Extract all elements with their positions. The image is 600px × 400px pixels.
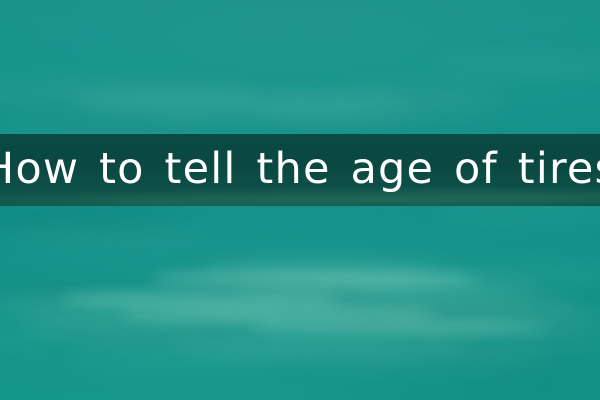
cloud-wisp	[0, 232, 210, 242]
cloud-wisp	[250, 322, 550, 334]
cloud-wisp	[330, 88, 520, 97]
cloud-wisp	[430, 60, 600, 70]
cloud-wisp	[300, 356, 560, 366]
cloud-wisp	[140, 114, 440, 124]
cloud-wisp	[0, 332, 210, 343]
article-header-card: How to tell the age of tires	[0, 0, 600, 400]
cloud-wisp	[0, 214, 180, 226]
cloud-wisp	[60, 352, 320, 362]
cloud-wisp	[430, 208, 600, 219]
title-banner: How to tell the age of tires	[0, 134, 600, 206]
page-title: How to tell the age of tires	[0, 148, 600, 191]
cloud-wisp	[0, 124, 220, 133]
